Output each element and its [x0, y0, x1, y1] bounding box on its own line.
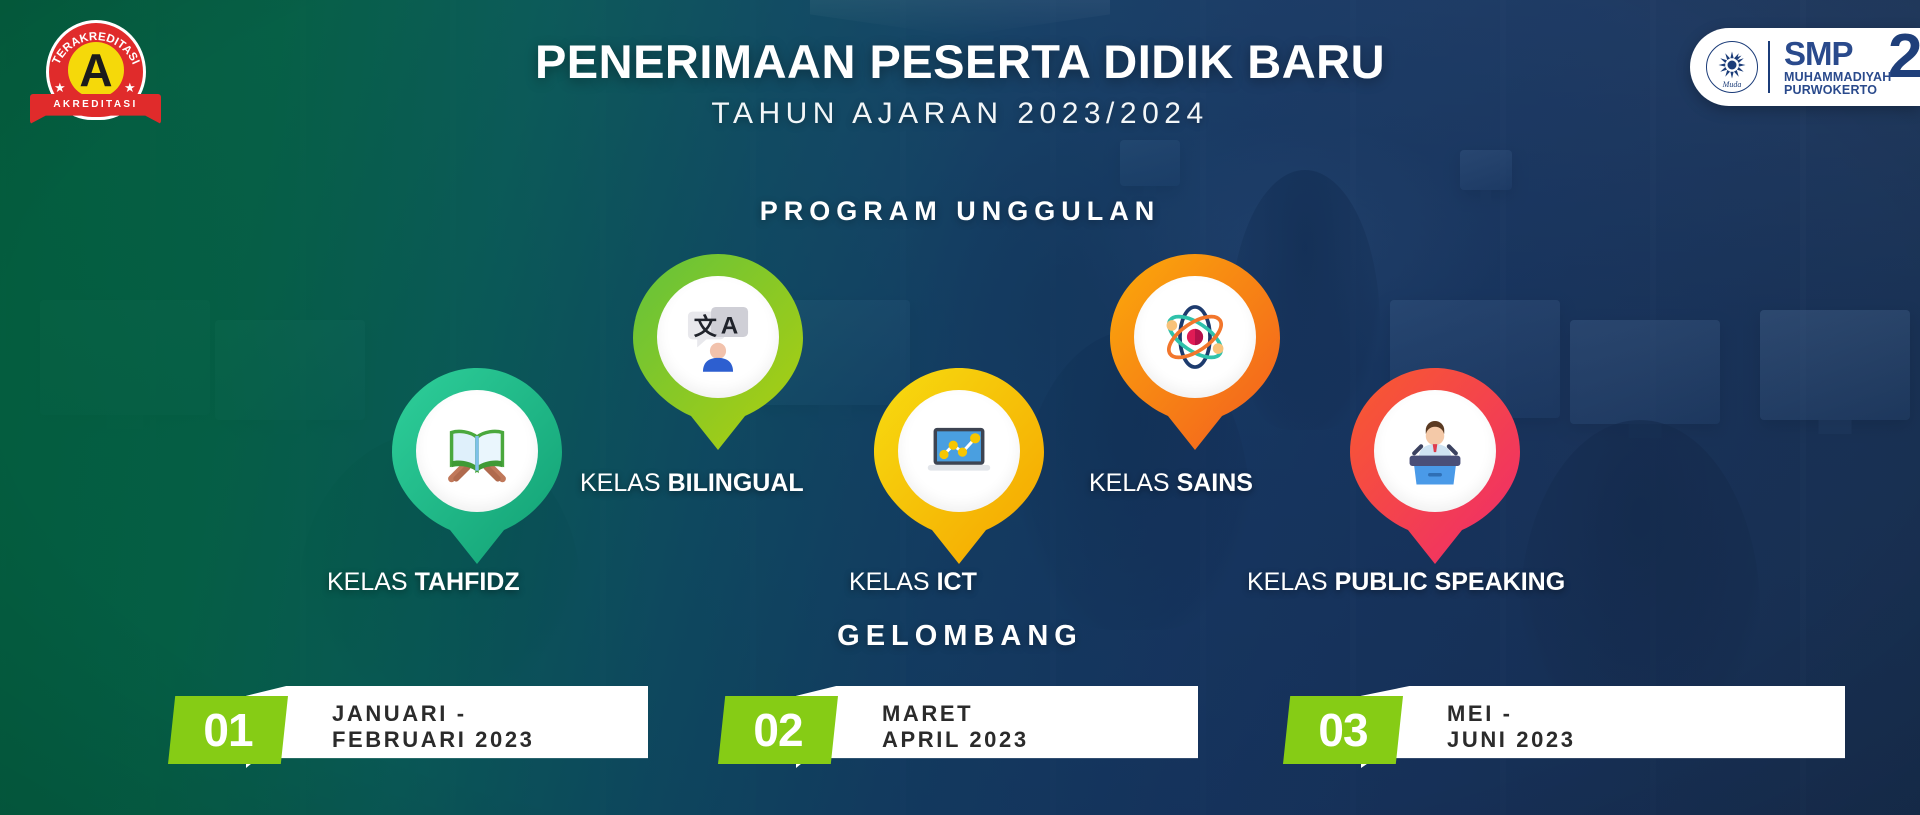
wave-banner-2: MARET APRIL 2023 [796, 686, 1198, 768]
wave-dates-3: MEI - JUNI 2023 [1447, 701, 1576, 753]
page-subtitle: TAHUN AJARAN 2023/2024 [0, 97, 1920, 131]
page-title: PENERIMAAN PESERTA DIDIK BARU [0, 34, 1920, 89]
program-pin-bilingual[interactable]: 文 A KELAS BILINGUAL [633, 254, 803, 450]
school-city-label: PURWOKERTO [1784, 83, 1877, 97]
wave-item-2[interactable]: MARET APRIL 2023 02 [718, 686, 1198, 768]
program-label-ict: KELAS ICT [849, 568, 977, 597]
pin-disc-public-speaking [1374, 390, 1496, 512]
wave-banner-1: JANUARI - FEBRUARI 2023 [246, 686, 648, 768]
program-pin-sains[interactable]: KELAS SAINS [1110, 254, 1280, 450]
school-number-label: 2 [1888, 28, 1920, 88]
wave-dates-1: JANUARI - FEBRUARI 2023 [332, 701, 535, 753]
wave-number-3: 03 [1283, 696, 1403, 764]
wave-section-heading: GELOMBANG [0, 620, 1920, 653]
emblem-caption: Muda [1707, 80, 1757, 89]
school-level-label: SMP [1784, 35, 1853, 73]
wave-banner-3: MEI - JUNI 2023 [1361, 686, 1845, 768]
program-pin-tahfidz[interactable]: KELAS TAHFIDZ [392, 368, 562, 564]
program-label-public-speaking: KELAS PUBLIC SPEAKING [1247, 568, 1565, 597]
pin-disc-sains [1134, 276, 1256, 398]
pin-disc-bilingual: 文 A [657, 276, 779, 398]
program-pin-ict[interactable]: KELAS ICT [874, 368, 1044, 564]
wave-number-1: 01 [168, 696, 288, 764]
ppdb-banner: TERAKREDITASI A ★ ★ AKREDITASI PENERIMAA… [0, 0, 1920, 815]
laptop-chart-icon [922, 414, 996, 488]
svg-text:文: 文 [694, 314, 718, 341]
program-label-bilingual: KELAS BILINGUAL [580, 469, 804, 498]
muhammadiyah-emblem-icon: Muda [1706, 41, 1758, 93]
wave-number-2: 02 [718, 696, 838, 764]
pin-disc-ict [898, 390, 1020, 512]
school-org-label: MUHAMMADIYAH [1784, 70, 1892, 84]
podium-speaker-icon [1398, 414, 1472, 488]
pin-disc-tahfidz [416, 390, 538, 512]
translate-language-icon: 文 A [681, 300, 755, 374]
atom-icon [1158, 300, 1232, 374]
logo-divider [1768, 41, 1770, 93]
svg-text:A: A [721, 313, 739, 340]
program-label-tahfidz: KELAS TAHFIDZ [327, 568, 520, 597]
program-label-sains: KELAS SAINS [1089, 469, 1253, 498]
program-pin-public-speaking[interactable]: KELAS PUBLIC SPEAKING [1350, 368, 1520, 564]
program-section-heading: PROGRAM UNGGULAN [0, 196, 1920, 227]
wave-item-3[interactable]: MEI - JUNI 2023 03 [1283, 686, 1763, 768]
open-book-quran-icon [440, 414, 514, 488]
header-title-block: PENERIMAAN PESERTA DIDIK BARU TAHUN AJAR… [0, 34, 1920, 131]
wave-dates-2: MARET APRIL 2023 [882, 701, 1029, 753]
wave-row: JANUARI - FEBRUARI 2023 01 MARET APRIL 2… [0, 686, 1920, 786]
wave-item-1[interactable]: JANUARI - FEBRUARI 2023 01 [168, 686, 648, 768]
school-name-block: SMP 2 MUHAMMADIYAH PURWOKERTO [1780, 36, 1920, 98]
school-logo: Muda SMP 2 MUHAMMADIYAH PURWOKERTO [1690, 28, 1920, 106]
